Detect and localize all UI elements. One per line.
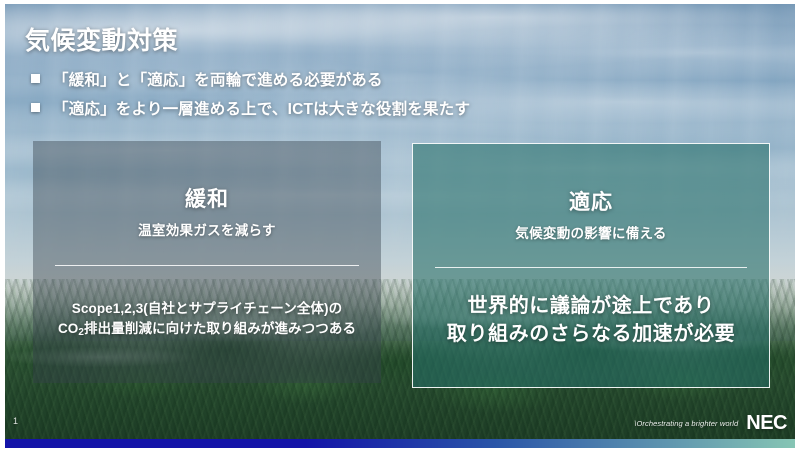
slide: 気候変動対策 「緩和」と「適応」を両輪で進める必要がある 「適応」をより一層進め… [0, 0, 800, 451]
brand-block: \Orchestrating a brighter world NEC [634, 413, 787, 433]
square-bullet-icon [31, 103, 40, 112]
panel-mitigation-body-line1: Scope1,2,3(自社とサプライチェーン全体)の [41, 299, 373, 319]
list-item: 「適応」をより一層進める上で、ICTは大きな役割を果たす [31, 95, 771, 120]
panel-adaptation: 適応 気候変動の影響に備える 世界的に議論が途上であり 取り組みのさらなる加速が… [412, 143, 770, 388]
panel-mitigation-body: Scope1,2,3(自社とサプライチェーン全体)の CO2排出量削減に向けた取… [41, 299, 373, 341]
list-item: 「緩和」と「適応」を両輪で進める必要がある [31, 66, 771, 91]
co2-suffix: 排出量削減に向けた取り組みが進みつつある [84, 321, 356, 336]
panel-mitigation-body-line2: CO2排出量削減に向けた取り組みが進みつつある [41, 319, 373, 341]
bullet-text: 「緩和」と「適応」を両輪で進める必要がある [53, 68, 383, 90]
panel-mitigation-subtitle: 温室効果ガスを減らす [33, 219, 381, 239]
panel-adaptation-body: 世界的に議論が途上であり 取り組みのさらなる加速が必要 [421, 292, 761, 349]
bullet-list: 「緩和」と「適応」を両輪で進める必要がある 「適応」をより一層進める上で、ICT… [31, 66, 771, 124]
panel-adaptation-heading: 適応 [413, 186, 769, 216]
panel-adaptation-subtitle: 気候変動の影響に備える [413, 222, 769, 242]
slide-canvas: 気候変動対策 「緩和」と「適応」を両輪で進める必要がある 「適応」をより一層進め… [5, 4, 795, 448]
page-title: 気候変動対策 [25, 21, 178, 57]
panel-adaptation-body-line2: 取り組みのさらなる加速が必要 [421, 320, 761, 348]
bullet-text: 「適応」をより一層進める上で、ICTは大きな役割を果たす [53, 97, 470, 119]
panel-mitigation-divider [55, 265, 359, 266]
bottom-accent-bar [5, 439, 795, 448]
panel-mitigation: 緩和 温室効果ガスを減らす Scope1,2,3(自社とサプライチェーン全体)の… [33, 141, 381, 383]
page-number: 1 [13, 416, 18, 426]
co2-prefix: CO [58, 321, 78, 336]
square-bullet-icon [31, 74, 40, 83]
nec-logo: NEC [746, 413, 787, 433]
brand-tagline: \Orchestrating a brighter world [634, 419, 738, 428]
panel-adaptation-body-line1: 世界的に議論が途上であり [421, 292, 761, 320]
panel-adaptation-divider [435, 267, 747, 268]
panel-mitigation-heading: 緩和 [33, 183, 381, 213]
